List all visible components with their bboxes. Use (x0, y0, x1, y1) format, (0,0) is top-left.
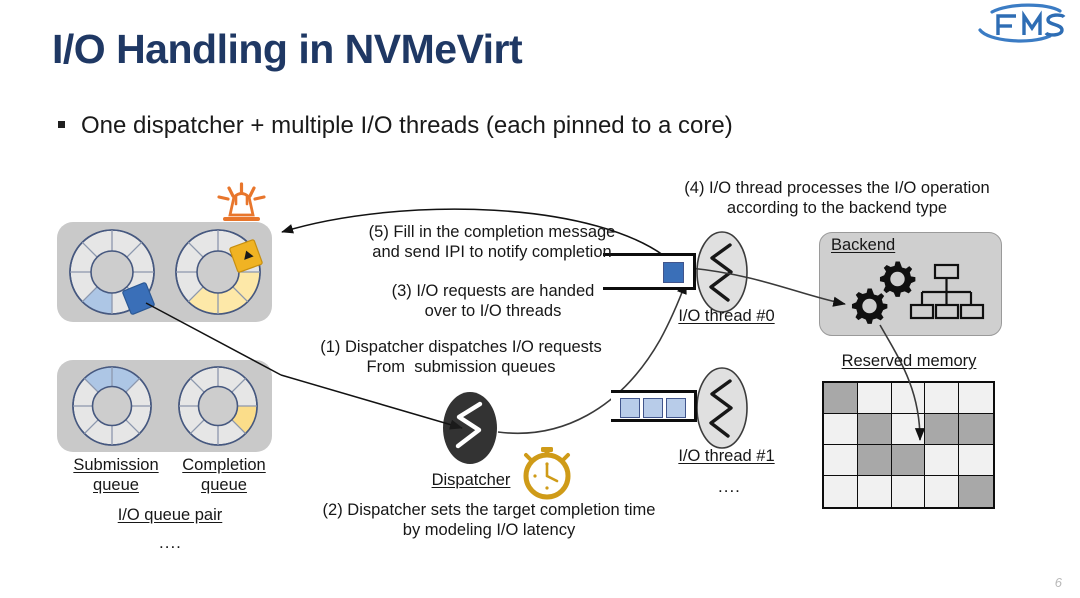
annotation-step3: (3) I/O requests are handed over to I/O … (330, 281, 656, 321)
completion-ring-bottom (179, 367, 257, 445)
completion-ring-top (176, 230, 263, 314)
annotation-step1: (1) Dispatcher dispatches I/O requests F… (288, 337, 634, 377)
annotation-step4: (4) I/O thread processes the I/O operati… (657, 178, 1017, 218)
io-queue-pair-label: I/O queue pair (90, 506, 250, 526)
page-number: 6 (1055, 575, 1062, 590)
io-thread-1-node (697, 368, 747, 448)
io-thread-0-slot (663, 262, 684, 283)
backend-label: Backend (831, 236, 923, 256)
dispatcher-node (443, 392, 497, 464)
io-thread-1-slot (620, 398, 640, 418)
io-thread-1-queue (611, 390, 697, 422)
annotation-step5: (5) Fill in the completion message and s… (322, 222, 662, 262)
submission-ring-bottom (73, 367, 151, 445)
slide: I/O Handling in NVMeVirt One dispatcher … (0, 0, 1080, 598)
submission-queue-label: Submission queue (55, 456, 177, 496)
reserved-memory-label: Reserved memory (823, 352, 995, 372)
hierarchy-icon (911, 265, 983, 318)
annotation-step2: (2) Dispatcher sets the target completio… (284, 500, 694, 540)
io-thread-0-label: I/O thread #0 (659, 307, 794, 327)
gears-icon (852, 261, 915, 323)
io-queue-pair-more: .... (159, 533, 182, 553)
submission-ring-top (70, 230, 155, 315)
io-thread-1-label: I/O thread #1 (659, 447, 794, 467)
io-thread-more: .... (718, 477, 741, 497)
completion-queue-label: Completion queue (163, 456, 285, 496)
arrow-backend-to-memory (880, 325, 920, 440)
dispatcher-label: Dispatcher (415, 471, 527, 491)
siren-icon (219, 184, 264, 219)
io-thread-1-slot (666, 398, 686, 418)
io-thread-1-slot (643, 398, 663, 418)
stopwatch-icon (526, 447, 568, 497)
